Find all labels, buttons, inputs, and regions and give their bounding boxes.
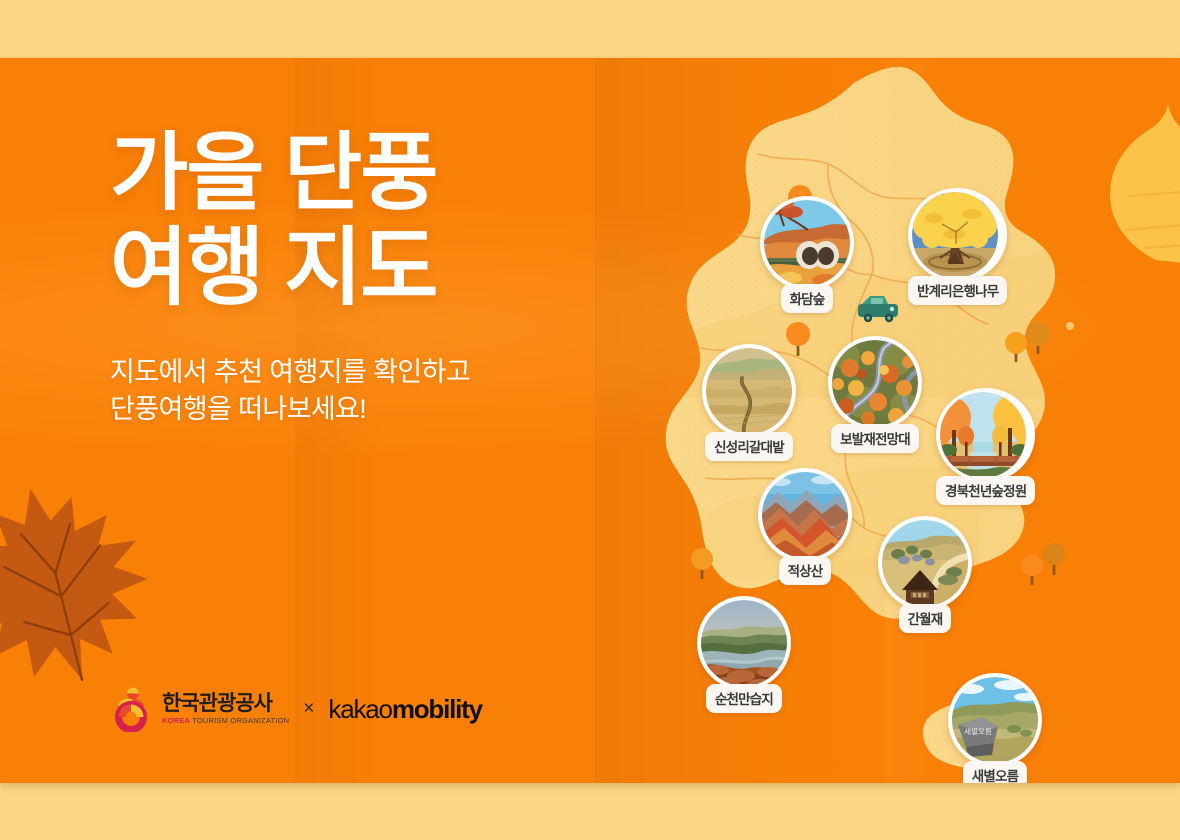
pin-photo-bobaljae: [832, 340, 918, 426]
map-pin-gyeongbuk[interactable]: 경북천년숲정원: [936, 388, 1035, 505]
pin-photo-gyeongbuk: [940, 392, 1026, 478]
pin-circle[interactable]: [828, 336, 922, 430]
pin-label[interactable]: 화담숲: [781, 284, 834, 313]
pin-photo-jeoksangsan: [762, 472, 848, 558]
pin-circle[interactable]: [697, 596, 791, 690]
pin-label[interactable]: 경북천년숲정원: [936, 476, 1035, 505]
jeju-stone-label: 새별오름: [964, 726, 992, 736]
pin-circle[interactable]: 새별오름: [948, 673, 1042, 767]
pin-label[interactable]: 신성리갈대밭: [705, 432, 793, 461]
pin-photo-sinseongri: [706, 348, 792, 434]
kto-english-red: KOREA: [162, 716, 190, 725]
mobility-word: mobility: [392, 694, 482, 724]
pin-circle[interactable]: [758, 468, 852, 562]
kto-wordmark: 한국관광공사 KOREA TOURISM ORGANIZATION: [162, 693, 289, 725]
kto-symbol-icon: [108, 686, 154, 732]
pin-label[interactable]: 간월재: [899, 604, 952, 633]
pin-circle[interactable]: [878, 516, 972, 610]
page-subtitle: 지도에서 추천 여행지를 확인하고 단풍여행을 떠나보세요!: [110, 354, 470, 429]
pin-label[interactable]: 순천만습지: [706, 684, 782, 713]
pin-photo-suncheonman: [701, 600, 787, 686]
logo-row: 한국관광공사 KOREA TOURISM ORGANIZATION × kaka…: [108, 686, 482, 732]
map-pin-suncheonman[interactable]: 순천만습지: [697, 596, 791, 713]
map-pin-bangyeri[interactable]: 반계리은행나무: [908, 188, 1007, 305]
kakao-word: kakao: [328, 694, 391, 724]
pin-circle[interactable]: [760, 196, 854, 290]
pin-circle[interactable]: [936, 388, 1035, 482]
pin-photo-hwadamsup: [764, 200, 850, 286]
pin-photo-saebyeoloreum: 새별오름: [952, 677, 1038, 763]
pin-label[interactable]: 보발재전망대: [831, 424, 919, 453]
logo-separator: ×: [303, 698, 314, 720]
maple-leaf-icon: [0, 476, 156, 691]
map-pin-sinseongri[interactable]: 신성리갈대밭: [702, 344, 796, 461]
kakaomobility-logo: kakaomobility: [328, 694, 481, 725]
map-pin-hwadamsup[interactable]: 화담숲: [760, 196, 854, 313]
pin-circle[interactable]: [908, 188, 1007, 282]
pin-photo-ganwoljae: [882, 520, 968, 606]
pin-circle[interactable]: [702, 344, 796, 438]
map-pin-ganwoljae[interactable]: 간월재: [878, 516, 972, 633]
kto-english-name: KOREA TOURISM ORGANIZATION: [162, 717, 289, 725]
pin-label[interactable]: 적상산: [779, 556, 832, 585]
kto-korean-name: 한국관광공사: [162, 693, 289, 714]
page-title: 가을 단풍 여행 지도: [110, 126, 436, 316]
kto-english-rest: TOURISM ORGANIZATION: [190, 716, 289, 725]
map-pin-jeoksangsan[interactable]: 적상산: [758, 468, 852, 585]
pin-label[interactable]: 반계리은행나무: [908, 276, 1007, 305]
pin-label[interactable]: 새별오름: [963, 761, 1027, 783]
kto-logo: 한국관광공사 KOREA TOURISM ORGANIZATION: [108, 686, 289, 732]
map-pin-bobaljae[interactable]: 보발재전망대: [828, 336, 922, 453]
korea-travel-map[interactable]: 화담숲: [640, 58, 1180, 783]
pin-photo-bangyeri: [912, 192, 998, 278]
map-pin-saebyeoloreum[interactable]: 새별오름 새별오름: [948, 673, 1042, 783]
poster-panel: 가을 단풍 여행 지도 지도에서 추천 여행지를 확인하고 단풍여행을 떠나보세…: [0, 58, 1180, 783]
